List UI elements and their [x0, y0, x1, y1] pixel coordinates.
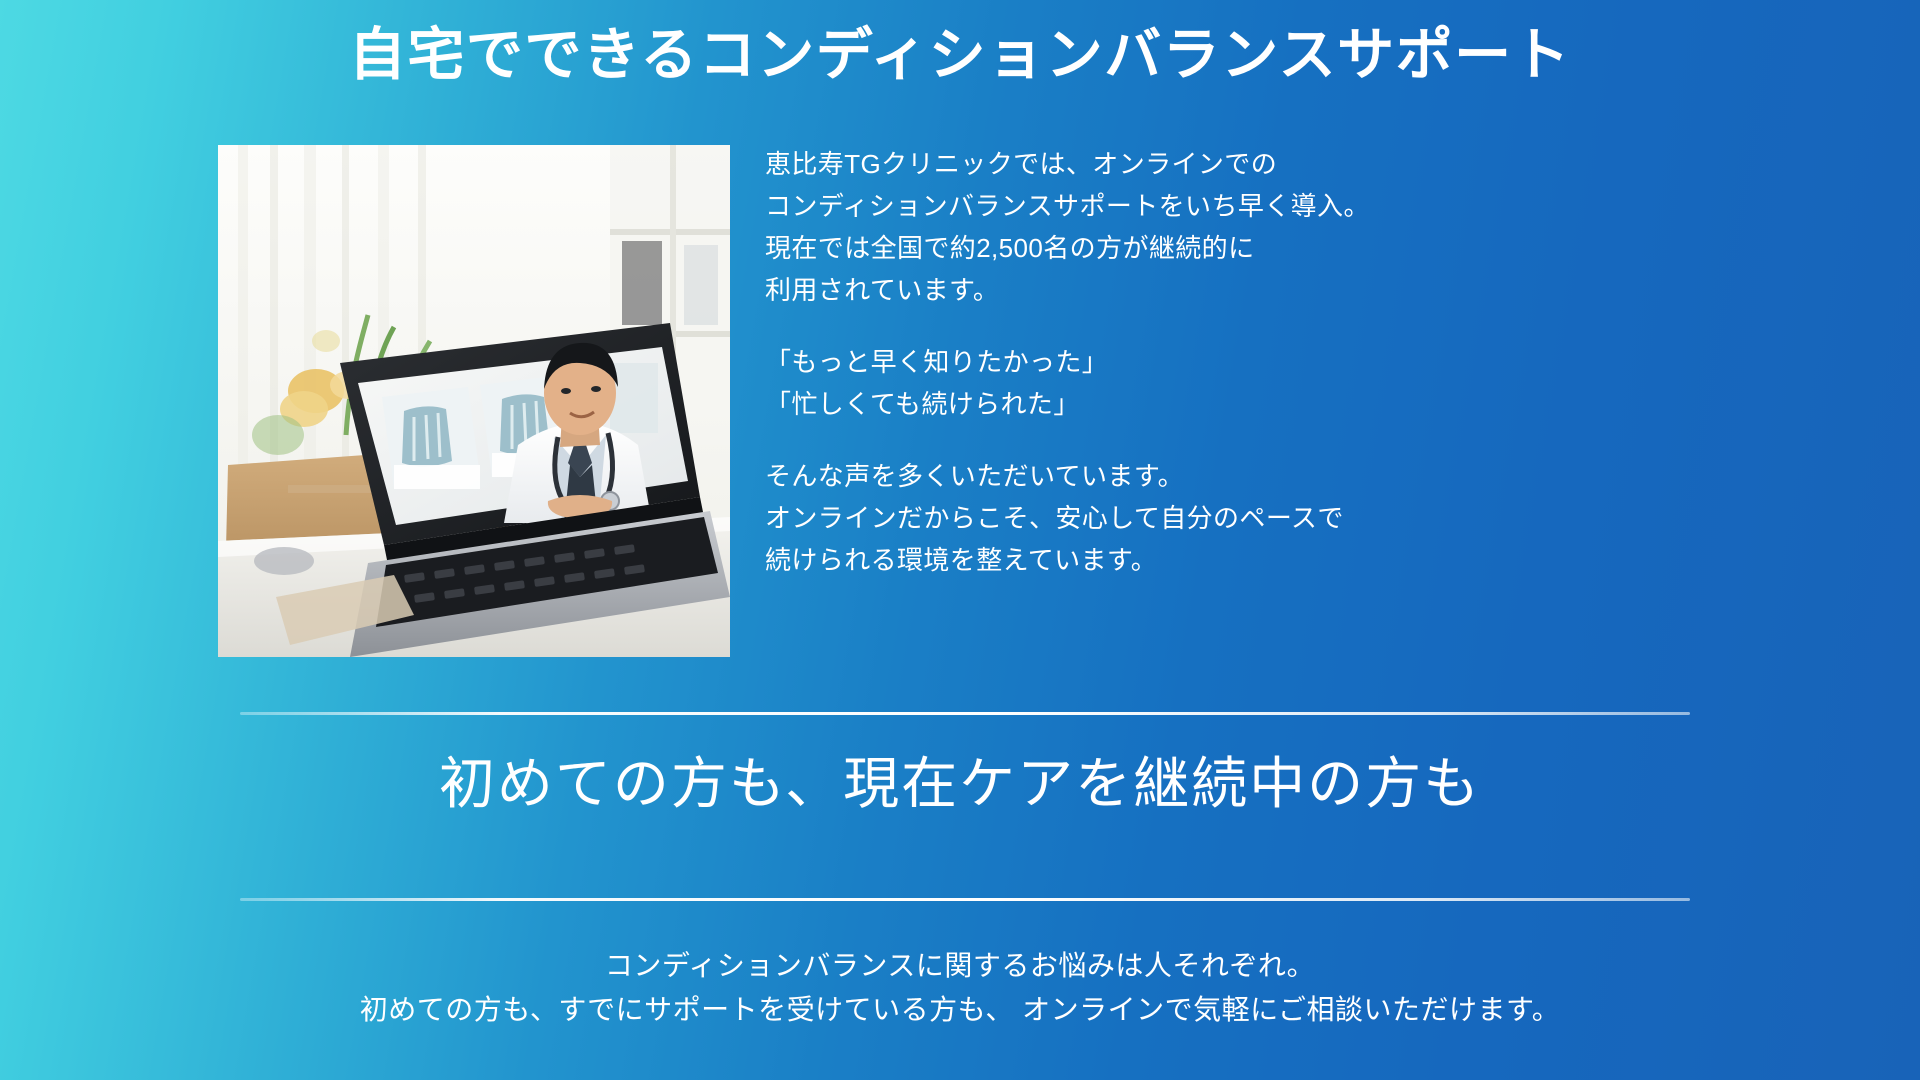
telemedicine-photo: [218, 145, 730, 657]
copy-line: 恵比寿TGクリニックでは、オンラインでの: [765, 143, 1405, 185]
copy-line: コンディションバランスサポートをいち早く導入。: [765, 185, 1405, 227]
footer-line: コンディションバランスに関するお悩みは人それぞれ。: [0, 944, 1920, 988]
body-copy: 恵比寿TGクリニックでは、オンラインでの コンディションバランスサポートをいち早…: [765, 143, 1405, 581]
testimonial-quote: 「もっと早く知りたかった」: [765, 341, 1405, 383]
copy-line: 現在では全国で約2,500名の方が継続的に: [765, 227, 1405, 269]
copy-line: オンラインだからこそ、安心して自分のペースで: [765, 497, 1405, 539]
divider-bottom: [240, 898, 1690, 901]
copy-line: 続けられる環境を整えています。: [765, 539, 1405, 581]
copy-line: そんな声を多くいただいています。: [765, 455, 1405, 497]
copy-paragraph-1: 恵比寿TGクリニックでは、オンラインでの コンディションバランスサポートをいち早…: [765, 143, 1405, 311]
footer-text: コンディションバランスに関するお悩みは人それぞれ。 初めての方も、すでにサポート…: [0, 944, 1920, 1032]
footer-line: 初めての方も、すでにサポートを受けている方も、 オンラインで気軽にご相談いただけ…: [0, 988, 1920, 1032]
testimonial-quote: 「忙しくても続けられた」: [765, 383, 1405, 425]
copy-line: 利用されています。: [765, 269, 1405, 311]
copy-paragraph-2-quotes: 「もっと早く知りたかった」 「忙しくても続けられた」: [765, 341, 1405, 425]
copy-paragraph-3: そんな声を多くいただいています。 オンラインだからこそ、安心して自分のペースで …: [765, 455, 1405, 581]
divider-top: [240, 712, 1690, 715]
mid-heading: 初めての方も、現在ケアを継続中の方も: [0, 752, 1920, 816]
promo-section: 自宅でできるコンディションバランスサポート: [0, 0, 1920, 1080]
page-title: 自宅でできるコンディションバランスサポート: [0, 24, 1920, 87]
